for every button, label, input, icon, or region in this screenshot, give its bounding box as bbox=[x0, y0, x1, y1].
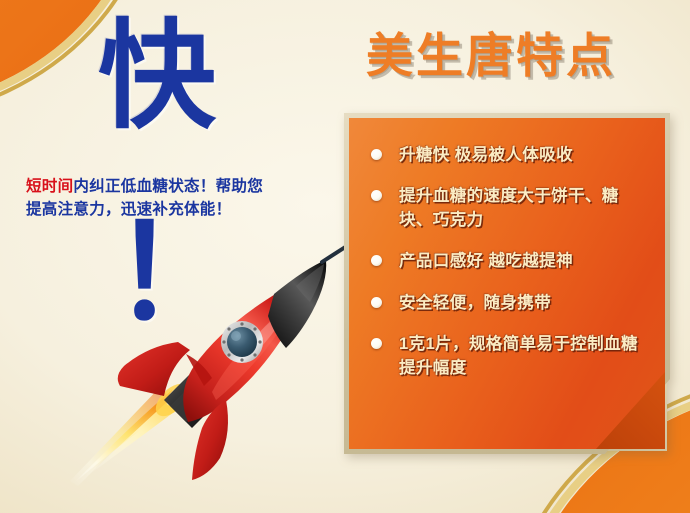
bullet-dot-icon bbox=[371, 149, 382, 160]
bullet-dot-icon bbox=[371, 255, 382, 266]
panel-body: 升糖快 极易被人体吸收 提升血糖的速度大于饼干、糖块、巧克力 产品口感好 越吃越… bbox=[349, 118, 665, 449]
list-item: 安全轻便，随身携带 bbox=[365, 292, 651, 315]
list-item-label: 安全轻便，随身携带 bbox=[399, 294, 551, 312]
headline-character: 快 bbox=[98, 18, 216, 136]
list-item: 提升血糖的速度大于饼干、糖块、巧克力 bbox=[365, 185, 651, 232]
bullet-dot-icon bbox=[371, 297, 382, 308]
list-item-label: 提升血糖的速度大于饼干、糖块、巧克力 bbox=[399, 187, 619, 228]
bullet-dot-icon bbox=[371, 190, 382, 201]
list-item-label: 产品口感好 越吃越提神 bbox=[399, 252, 573, 270]
rocket-illustration bbox=[60, 250, 360, 490]
list-item-label: 1克1片，规格简单易于控制血糖提升幅度 bbox=[399, 335, 638, 376]
promo-slide: 快 短时间内纠正低血糖状态！帮助您 提高注意力，迅速补充体能！ ！ bbox=[0, 0, 690, 513]
lead-highlight-text: 短时间 bbox=[26, 178, 73, 195]
list-item: 1克1片，规格简单易于控制血糖提升幅度 bbox=[365, 333, 651, 380]
list-item-label: 升糖快 极易被人体吸收 bbox=[399, 146, 573, 164]
features-panel: 升糖快 极易被人体吸收 提升血糖的速度大于饼干、糖块、巧克力 产品口感好 越吃越… bbox=[344, 113, 670, 454]
feature-list: 升糖快 极易被人体吸收 提升血糖的速度大于饼干、糖块、巧克力 产品口感好 越吃越… bbox=[365, 144, 651, 380]
bullet-dot-icon bbox=[371, 338, 382, 349]
list-item: 升糖快 极易被人体吸收 bbox=[365, 144, 651, 167]
rocket-porthole bbox=[221, 321, 263, 363]
lead-rest-line1: 内纠正低血糖状态！帮助您 bbox=[73, 178, 263, 195]
list-item: 产品口感好 越吃越提神 bbox=[365, 250, 651, 273]
page-title: 美生唐特点 bbox=[366, 32, 616, 79]
